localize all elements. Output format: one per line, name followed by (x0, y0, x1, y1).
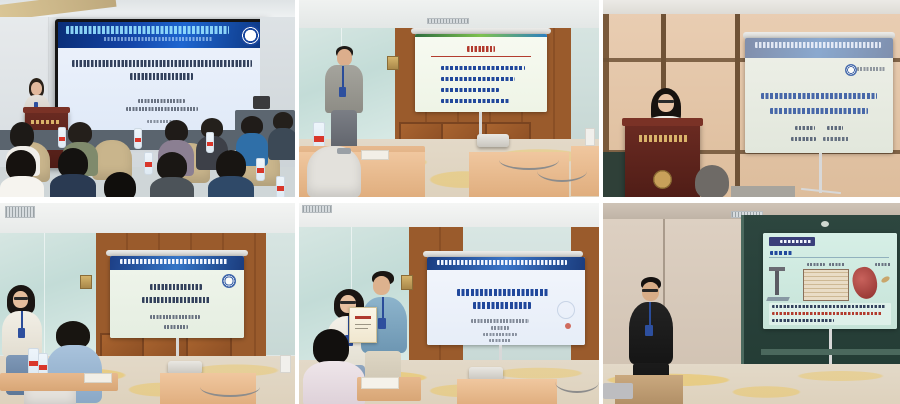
slide-6-logo-text: 太原理工大学 (780, 240, 812, 243)
presenter-lanyard (382, 297, 384, 319)
slide-1-title-line-2: 化骨再生研究 (130, 73, 193, 80)
slide-4: 2025(第二届)中西部地区生物制造及相关材料发展论坛 诱导内皮化生成的 同轴打… (110, 256, 244, 338)
audience-member (208, 150, 254, 197)
slide-6-diagram-label-1: 取向纤维支架 (807, 263, 825, 266)
ceiling (299, 203, 599, 227)
photo-panel-3: 2025(第二届)中西部地区生物制造及相关材料发展论坛 太原理工大学 光响应型C… (603, 0, 900, 197)
slide-6-text-block: 利用静电纺丝技术构建心肌细胞外基质并具有取向结构的支架材料，以模拟天然 心肌组织… (769, 303, 891, 325)
slide-5-title-line-1: 基于静电喷雾的复合微球的制 (457, 289, 549, 296)
presenter-head (31, 82, 42, 95)
audience-hair (10, 122, 34, 148)
panel-4-scene: 2025(第二届)中西部地区生物制造及相关材料发展论坛 诱导内皮化生成的 同轴打… (0, 203, 295, 404)
photo-panel-6: 太原理工大学 1 研究背景 取向纤维支架 心肌细胞 心脏补片 利用静电纺丝 (603, 203, 900, 404)
water-bottle (206, 132, 214, 153)
collector-plate (766, 297, 790, 301)
slide-1-presenter: 连小洁 副教授 (138, 99, 185, 103)
cable (537, 160, 587, 182)
slide-4-presenter: 赵丽婷 太原理工大学 (150, 315, 200, 319)
presenter (629, 277, 673, 389)
water-bottle (134, 128, 142, 149)
audience-body (268, 128, 295, 160)
slide-2-heading-underline (431, 56, 531, 57)
presenter-head (337, 49, 352, 66)
desk-phone (337, 148, 351, 154)
university-seal-icon (222, 274, 236, 288)
attendee-hair (313, 329, 349, 365)
slide-6-diagram-label-2: 心肌细胞 (829, 263, 845, 266)
ceiling-vent (302, 205, 332, 213)
screen-tripod-stand (819, 153, 822, 193)
slide-decoration-dot (565, 323, 571, 329)
slide-5-advisor: 导师：张磊 (489, 339, 511, 342)
tissue-box (280, 355, 291, 373)
slide-4-banner-title: 2025(第二届)中西部地区生物制造及相关材料发展论坛 (120, 259, 228, 264)
slide-3-banner-title: 2025(第二届)中西部地区生物制造及相关材料发展论坛 (755, 42, 881, 48)
projection-screen-4: 2025(第二届)中西部地区生物制造及相关材料发展论坛 诱导内皮化生成的 同轴打… (110, 256, 244, 338)
water-bottle (58, 127, 66, 148)
photo-panel-1: 2025(第二届)中西部地区生物制造及相关材料发展论坛 www.bio-mfg.… (0, 0, 295, 197)
panel-3-scene: 2025(第二届)中西部地区生物制造及相关材料发展论坛 太原理工大学 光响应型C… (603, 0, 900, 197)
audience-body (150, 177, 194, 197)
slide-3-date-value: 2025年6月14日 (823, 137, 849, 141)
presenter-lanyard (21, 311, 23, 329)
slide-1-affiliation: 太原理工大学 人工智能学院 (126, 107, 198, 111)
slide-3-banner (745, 38, 893, 58)
certificate-title-line (355, 316, 371, 319)
slide-5-title-line-2: 备及应用研究 (473, 302, 531, 309)
cable (200, 377, 260, 397)
tissue-box (585, 128, 595, 146)
slide-1-title-line-1: 层次化多级孔类骨膜/骨仿生支架调控血管 (72, 60, 252, 67)
paper-stack (361, 150, 389, 160)
presenter-lanyard (649, 302, 651, 326)
presenter-glasses-icon (658, 100, 674, 103)
presenter-glasses-icon (14, 297, 28, 300)
audience-hair (695, 165, 729, 197)
slide-5: 2025(第二届)中西部地区生物制造及相关材料发展论坛 基于静电喷雾的复合微球的… (427, 257, 585, 345)
photo-panel-5: 2025(第二届)中西部地区生物制造及相关材料发展论坛 基于静电喷雾的复合微球的… (299, 203, 599, 404)
slide-5-banner-title: 2025(第二届)中西部地区生物制造及相关材料发展论坛 (437, 260, 567, 265)
slide-6-rule (769, 257, 889, 258)
presenter-badge (378, 318, 386, 329)
presenter-badge (18, 328, 25, 338)
slide-6: 太原理工大学 1 研究背景 取向纤维支架 心肌细胞 心脏补片 利用静电纺丝 (763, 233, 897, 329)
water-bottle (144, 152, 153, 175)
audience-member (94, 172, 146, 197)
wall-baseboard (761, 349, 900, 355)
ceiling-vent (427, 18, 469, 24)
audience-member (150, 152, 194, 197)
chair (307, 146, 361, 197)
paper-stack (84, 373, 112, 383)
presenter-trousers (331, 110, 357, 151)
photo-panel-4: 2025(第二届)中西部地区生物制造及相关材料发展论坛 诱导内皮化生成的 同轴打… (0, 203, 295, 404)
attendee-body (303, 361, 365, 404)
slide-5-affiliation: 太原理工大学 生物医学工程学院 (471, 319, 529, 323)
panel-1-scene: 2025(第二届)中西部地区生物制造及相关材料发展论坛 www.bio-mfg.… (0, 0, 295, 197)
audience-body (0, 176, 44, 197)
photo-panel-2: 研究内容 1. 静电纺丝支架引导心肌细胞三维定向生长 2. 圆柱导电支架促进心肌… (299, 0, 599, 197)
aligned-fiber-scaffold (803, 269, 849, 301)
slide-6-body-line-2: 心肌组织各向异性的微结构，为心肌细胞的生长提供合适的三维空间，进而为 (772, 312, 882, 315)
electrospinning-apparatus-icon (775, 269, 779, 295)
slide-3-date-label: 汇报日期： (791, 137, 816, 141)
foreground-table (731, 186, 795, 197)
slide-5-presenter: 周 亮 (491, 326, 509, 330)
slide-2-item-4: 4. 类心脏补片的体外构建与表征 (441, 99, 509, 103)
audience-member (268, 112, 295, 158)
slide-3-presenter-label: 汇报人： (795, 126, 815, 130)
audience-body (208, 176, 254, 197)
certificate-body-line (355, 324, 371, 325)
ceiling-spotlight-icon (821, 221, 829, 227)
projection-screen-6: 太原理工大学 1 研究背景 取向纤维支架 心肌细胞 心脏补片 利用静电纺丝 (763, 233, 897, 329)
projection-screen-5: 2025(第二届)中西部地区生物制造及相关材料发展论坛 基于静电喷雾的复合微球的… (427, 257, 585, 345)
paper-stack (361, 377, 399, 389)
slide-6-logo-band: 太原理工大学 (769, 237, 815, 246)
panel-5-scene: 2025(第二届)中西部地区生物制造及相关材料发展论坛 基于静电喷雾的复合微球的… (299, 203, 599, 404)
slide-5-date: 2025年6月15日 (483, 333, 517, 336)
ceiling-vent (5, 206, 35, 218)
water-bottle (256, 158, 265, 181)
laptop (253, 96, 270, 109)
recipient-glasses-icon (340, 301, 356, 304)
wall-plaque (387, 56, 399, 70)
slide-6-body-line-3: 构建心肌组织修复体和心肌梗死治疗提供新方法。 (772, 319, 834, 322)
projector (477, 134, 509, 147)
slide-decoration-circle (557, 301, 575, 319)
slide-2-item-1: 1. 静电纺丝支架引导心肌细胞三维定向生长 (441, 66, 525, 70)
panel-2-scene: 研究内容 1. 静电纺丝支架引导心肌细胞三维定向生长 2. 圆柱导电支架促进心肌… (299, 0, 599, 197)
slide-3-presenter-value: 薛雯雯 (827, 126, 843, 130)
laptop (603, 383, 633, 399)
audience-member (0, 150, 44, 197)
audience-hair (68, 122, 92, 144)
water-bottle (276, 176, 285, 197)
audience-hair (165, 120, 188, 142)
cardiac-patch-icon (880, 275, 890, 284)
audience-member (50, 148, 96, 197)
slide-3: 2025(第二届)中西部地区生物制造及相关材料发展论坛 太原理工大学 光响应型C… (745, 38, 893, 153)
heart-illustration (850, 265, 880, 301)
slide-2-item-2: 2. 圆柱导电支架促进心肌细胞成熟化 (441, 77, 515, 81)
ceiling (0, 203, 295, 233)
presenter-head (658, 94, 674, 112)
apparatus-top (769, 267, 785, 271)
glass-seam (44, 233, 45, 355)
slide-1-banner-subtitle: www.bio-mfg.org.cn | 主办单位 · 承办 (104, 37, 212, 41)
slide-3-title-line-1: 光响应型CTF@PNIPAM/SA/GO多功能水凝胶 (761, 93, 877, 99)
table-cloth (457, 379, 557, 404)
slide-4-title-line-1: 诱导内皮化生成的 (150, 284, 202, 290)
presenter (325, 46, 363, 151)
lectern-nameplate: 研究生院 (639, 135, 687, 142)
panel-6-scene: 太原理工大学 1 研究背景 取向纤维支架 心肌细胞 心脏补片 利用静电纺丝 (603, 203, 900, 404)
slide-3-logo-text: 太原理工大学 (857, 67, 885, 71)
slide-2-item-3: 3. 电刺激装置与体外培养评价 (441, 88, 499, 92)
photo-collage: 2025(第二届)中西部地区生物制造及相关材料发展论坛 www.bio-mfg.… (0, 0, 900, 404)
slide-6-section-label: 1 研究背景 (770, 251, 792, 255)
slide-4-title-line-2: 同轴打印小直径血管 (142, 297, 210, 303)
slide-6-body-line-1: 利用静电纺丝技术构建心肌细胞外基质并具有取向结构的支架材料，以模拟天然 (772, 305, 886, 308)
lectern-emblem-icon (653, 170, 672, 189)
podium-top (23, 107, 70, 113)
seated-attendee (303, 329, 365, 404)
slide-2-top-rule (415, 34, 547, 37)
cable (555, 371, 599, 393)
university-seal-icon (845, 64, 857, 76)
presenter-head (373, 276, 390, 295)
university-seal-icon (240, 25, 261, 46)
slide-1-banner: 2025(第二届)中西部地区生物制造及相关材料发展论坛 www.bio-mfg.… (58, 22, 266, 48)
projection-screen-3: 2025(第二届)中西部地区生物制造及相关材料发展论坛 太原理工大学 光响应型C… (745, 38, 893, 153)
slide-3-title-line-2: 敷料的感染控制与组织再生双重策略 (770, 108, 868, 114)
audience-body (50, 174, 96, 197)
audience-hair (157, 152, 187, 180)
presenter-glasses-icon (642, 289, 658, 292)
presenter-badge (339, 87, 346, 97)
slide-2: 研究内容 1. 静电纺丝支架引导心肌细胞三维定向生长 2. 圆柱导电支架促进心肌… (415, 34, 547, 112)
slide-4-date: 2025.06.15 (164, 325, 188, 329)
audience-member (687, 165, 737, 197)
slide-1-banner-title: 2025(第二届)中西部地区生物制造及相关材料发展论坛 (66, 26, 228, 35)
lectern-top (622, 118, 703, 126)
projection-screen-2: 研究内容 1. 静电纺丝支架引导心肌细胞三维定向生长 2. 圆柱导电支架促进心肌… (415, 34, 547, 112)
slide-2-heading: 研究内容 (467, 46, 495, 52)
slide-6-diagram-label-3: 心脏补片 (875, 263, 891, 266)
presenter-lanyard (342, 66, 344, 88)
audience-hair (104, 172, 136, 197)
presenter-badge (645, 325, 653, 336)
ceiling (603, 0, 900, 14)
wall-plaque (80, 275, 92, 289)
